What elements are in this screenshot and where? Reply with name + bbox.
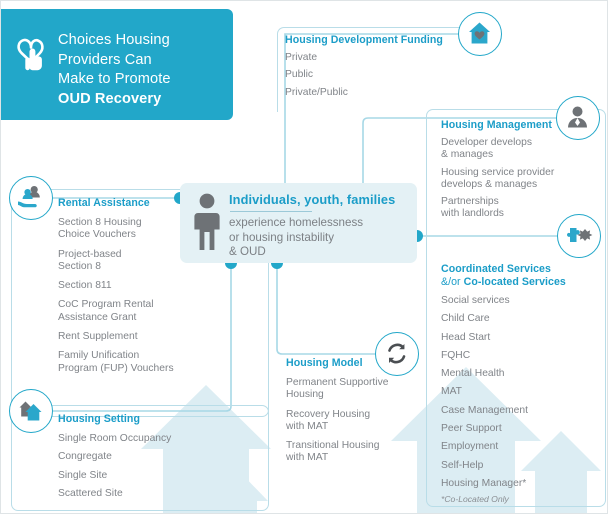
list-item: Social services — [441, 295, 606, 307]
center-divider — [230, 211, 312, 212]
list-item: Public — [285, 69, 475, 81]
list-item: Section 811 — [58, 280, 208, 292]
two-houses-icon — [10, 390, 51, 431]
manager-person-icon — [557, 97, 598, 138]
list-item: Permanent Supportive Housing — [286, 377, 426, 402]
center-heading: Individuals, youth, families — [229, 192, 409, 207]
list-item: MAT — [441, 386, 606, 398]
list-item: Project-based Section 8 — [58, 249, 208, 274]
list-item: Recovery Housing with MAT — [286, 409, 426, 434]
center-population-box: Individuals, youth, families experience … — [180, 183, 417, 263]
section-item-list: Permanent Supportive Housing Recovery Ho… — [286, 377, 426, 465]
section-heading: Coordinated Services &/or Co-located Ser… — [441, 263, 606, 288]
list-item: Mental Health — [441, 368, 606, 380]
list-item: Housing service provider develops & mana… — [441, 167, 601, 192]
list-item: Transitional Housing with MAT — [286, 440, 426, 465]
title-text: Choices Housing Providers Can Make to Pr… — [58, 31, 225, 109]
heart-hand-icon — [13, 35, 49, 75]
list-item: Private/Public — [285, 87, 475, 99]
section-footnote: *Co-Located Only — [441, 493, 606, 505]
section-rental-assistance: Rental Assistance Section 8 Housing Choi… — [58, 197, 208, 380]
title-line-1: Choices Housing — [58, 32, 170, 48]
section-item-list: Developer develops & manages Housing ser… — [441, 137, 601, 221]
two-houses-icon-circle — [9, 389, 53, 433]
list-item: Section 8 Housing Choice Vouchers — [58, 217, 208, 242]
section-item-list: Single Room Occupancy Congregate Single … — [58, 433, 223, 500]
section-item-list: Section 8 Housing Choice Vouchers Projec… — [58, 217, 208, 375]
list-item: Family Unification Program (FUP) Voucher… — [58, 350, 208, 375]
section-item-list: Social services Child Care Head Start FQ… — [441, 295, 606, 506]
section-coordinated-services: Coordinated Services &/or Co-located Ser… — [441, 263, 606, 511]
center-subtext: experience homelessness or housing insta… — [229, 216, 411, 260]
section-heading: Housing Setting — [58, 413, 223, 426]
list-item: Case Management — [441, 405, 606, 417]
title-line-3: Make to Promote — [58, 71, 171, 87]
hand-people-icon — [10, 177, 51, 218]
hand-people-icon-circle — [9, 176, 53, 220]
list-item: Employment — [441, 441, 606, 453]
section-heading-line-2: Co-located Services — [464, 276, 566, 288]
list-item: CoC Program Rental Assistance Grant — [58, 299, 208, 324]
list-item: Peer Support — [441, 423, 606, 435]
list-item: Self-Help — [441, 460, 606, 472]
list-item: Single Room Occupancy — [58, 433, 223, 445]
section-housing-setting: Housing Setting Single Room Occupancy Co… — [58, 413, 223, 505]
house-heart-icon — [459, 13, 500, 54]
title-banner: Choices Housing Providers Can Make to Pr… — [1, 9, 233, 120]
list-item: Housing Manager* — [441, 478, 606, 490]
puzzle-pieces-icon-circle — [557, 214, 601, 258]
list-item: Developer develops & manages — [441, 137, 601, 162]
list-item: Single Site — [58, 470, 223, 482]
manager-person-icon-circle — [556, 96, 600, 140]
list-item: Head Start — [441, 332, 606, 344]
title-line-4: OUD Recovery — [58, 91, 161, 107]
house-heart-icon-circle — [458, 12, 502, 56]
list-item: Private — [285, 52, 475, 64]
list-item: Scattered Site — [58, 488, 223, 500]
list-item: FQHC — [441, 350, 606, 362]
title-line-2: Providers Can — [58, 52, 152, 68]
section-housing-development-funding: Housing Development Funding Private Publ… — [285, 34, 475, 104]
refresh-cycle-icon — [376, 333, 417, 374]
list-item: Rent Supplement — [58, 331, 208, 343]
section-heading-line-1: Coordinated Services — [441, 263, 551, 275]
puzzle-pieces-icon — [558, 215, 599, 256]
section-heading: Housing Development Funding — [285, 34, 475, 47]
section-heading-prefix: &/or — [441, 276, 464, 288]
list-item: Congregate — [58, 451, 223, 463]
infographic-canvas: Choices Housing Providers Can Make to Pr… — [0, 0, 608, 514]
section-item-list: Private Public Private/Public — [285, 52, 475, 99]
section-heading: Rental Assistance — [58, 197, 208, 210]
refresh-cycle-icon-circle — [375, 332, 419, 376]
list-item: Child Care — [441, 313, 606, 325]
